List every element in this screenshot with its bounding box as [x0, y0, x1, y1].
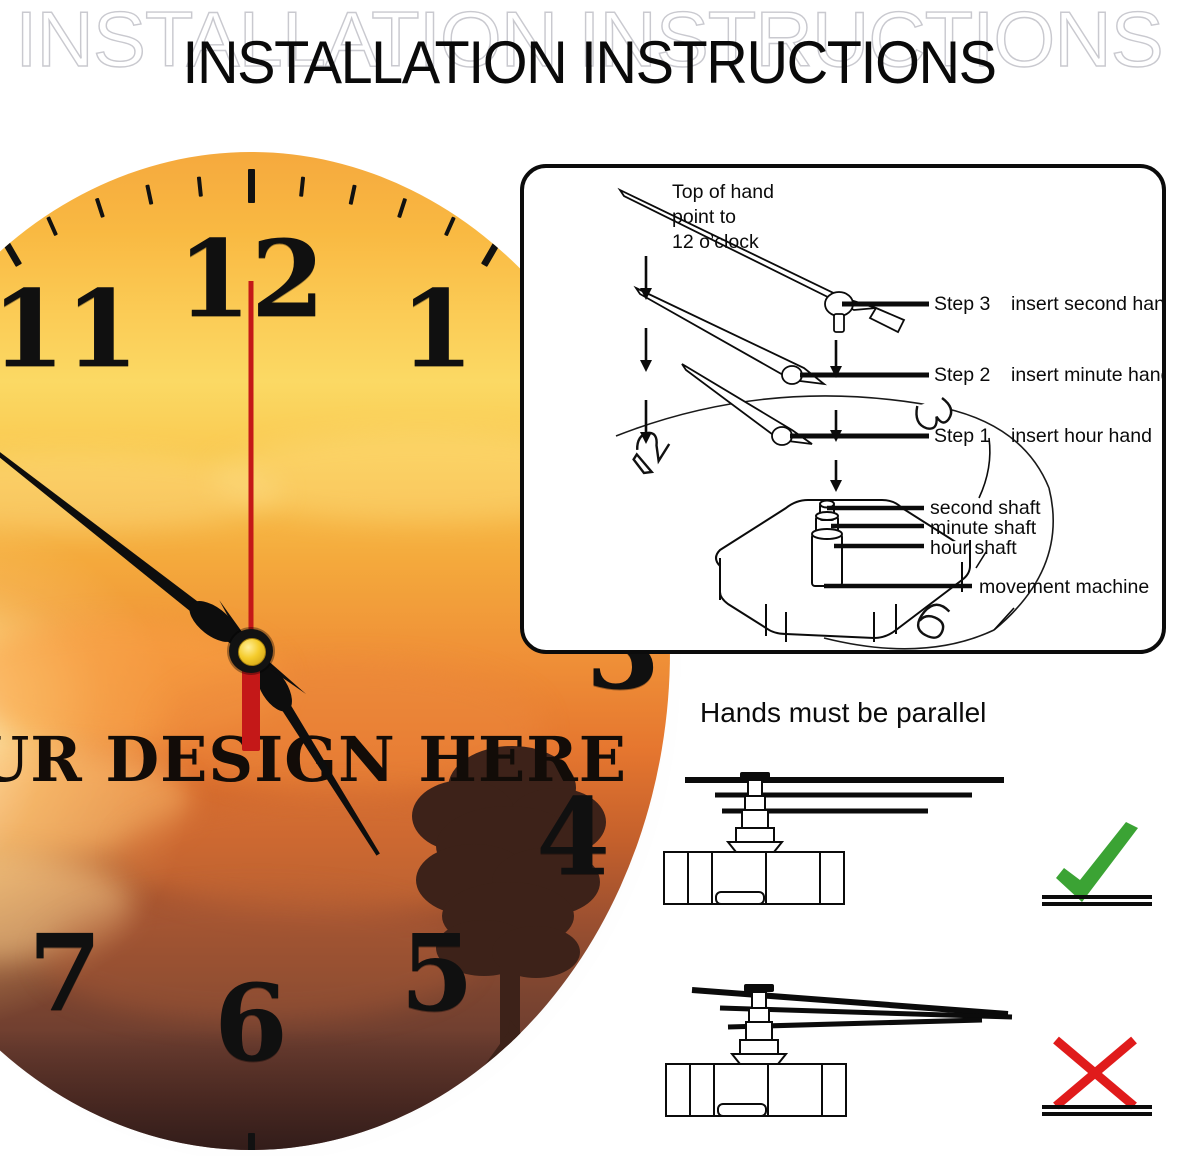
hub-cap [238, 638, 266, 666]
incorrect-baseline [1042, 1105, 1152, 1116]
clock-numeral-4: 4 [536, 784, 610, 890]
hour-shaft-label: hour shaft [930, 537, 1017, 560]
hour-tick [248, 169, 255, 203]
step-3-label: insert second hand [1011, 293, 1166, 316]
step-1-number: Step 1 [934, 425, 990, 448]
clock-numeral-1: 1 [400, 276, 474, 382]
hands-parallel-correct-diagram [660, 762, 1060, 932]
movement-machine-label: movement machine [979, 576, 1149, 599]
minute-tick [637, 953, 655, 968]
clock-numeral-6: 6 [214, 970, 288, 1076]
note-line-1: Top of hand [672, 180, 774, 205]
minute-tick [95, 198, 105, 218]
minute-tick [444, 216, 455, 236]
installation-instructions-page: INSTALLATION INSTRUCTIONS INSTALLATION I… [0, 0, 1177, 1156]
parallel-heading: Hands must be parallel [700, 697, 986, 729]
hour-tick [0, 234, 22, 267]
note-line-3: 12 o’clock [672, 230, 774, 255]
minute-tick [146, 185, 154, 205]
correct-check-icon [1042, 822, 1150, 922]
minute-tick [46, 216, 57, 236]
note-line-2: point to [672, 205, 774, 230]
minute-tick [197, 1149, 203, 1150]
hour-tick [248, 1133, 255, 1150]
step-2-number: Step 2 [934, 364, 990, 387]
clock-numeral-5: 5 [400, 920, 474, 1026]
minute-tick [197, 177, 203, 197]
step-1-label: insert hour hand [1011, 425, 1152, 448]
minute-tick [349, 185, 357, 205]
correct-baseline [1042, 895, 1152, 906]
clock-numeral-11: 11 [0, 276, 139, 382]
assembly-diagram-panel: Top of hand point to 12 o’clock Step 3 i… [520, 164, 1166, 654]
hour-tick [480, 234, 503, 267]
page-title-area: INSTALLATION INSTRUCTIONS INSTALLATION I… [0, 0, 1177, 120]
minute-tick [397, 198, 407, 218]
minute-tick [299, 177, 305, 197]
step-3-number: Step 3 [934, 293, 990, 316]
top-of-hand-note: Top of hand point to 12 o’clock [672, 180, 774, 255]
page-title: INSTALLATION INSTRUCTIONS [182, 28, 995, 97]
clock-numeral-7: 7 [28, 920, 102, 1026]
step-2-label: insert minute hand [1011, 364, 1166, 387]
hands-parallel-incorrect-diagram [660, 970, 1060, 1140]
